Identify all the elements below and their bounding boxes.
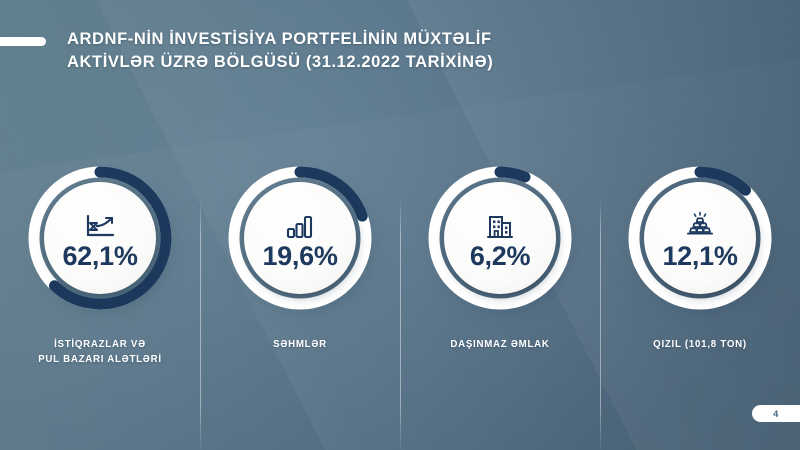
donut-chart-real-estate: 6,2% <box>424 162 576 314</box>
donut-chart-gold: 12,1% <box>624 162 776 314</box>
metric-label-bonds: İSTİQRAZLAR VƏ PUL BAZARI ALƏTLƏRİ <box>38 337 162 367</box>
metric-value-real-estate: 6,2% <box>470 243 530 270</box>
bar-chart-icon <box>285 207 315 241</box>
metric-card-row: 62,1% İSTİQRAZLAR VƏ PUL BAZARI ALƏTLƏRİ <box>0 162 800 367</box>
donut-center-bonds: 62,1% <box>44 182 156 294</box>
page-title: ARDNF-NİN İNVESTİSİYA PORTFELİNİN MÜXTƏL… <box>67 28 493 74</box>
donut-chart-shares: 19,6% <box>224 162 376 314</box>
metric-label-line-1: QIZIL (101,8 TON) <box>653 339 747 350</box>
metric-label-line-1: DAŞINMAZ ƏMLAK <box>450 339 549 350</box>
metric-label-real-estate: DAŞINMAZ ƏMLAK <box>450 337 549 352</box>
metric-card-real-estate: 6,2% DAŞINMAZ ƏMLAK <box>400 162 600 367</box>
metric-label-line-2: PUL BAZARI ALƏTLƏRİ <box>38 354 162 365</box>
line-chart-icon <box>84 207 116 241</box>
metric-value-bonds: 62,1% <box>62 243 137 270</box>
column-divider <box>400 200 401 450</box>
page-title-line-1: ARDNF-NİN İNVESTİSİYA PORTFELİNİN MÜXTƏL… <box>67 28 493 51</box>
column-divider <box>200 200 201 450</box>
gold-bars-icon <box>685 207 715 241</box>
metric-label-gold: QIZIL (101,8 TON) <box>653 337 747 352</box>
metric-card-shares: 19,6% SƏHMLƏR <box>200 162 400 367</box>
metric-card-bonds: 62,1% İSTİQRAZLAR VƏ PUL BAZARI ALƏTLƏRİ <box>0 162 200 367</box>
metric-label-shares: SƏHMLƏR <box>273 337 327 352</box>
page-number: 4 <box>773 409 778 419</box>
metric-value-shares: 19,6% <box>262 243 337 270</box>
metric-label-line-1: İSTİQRAZLAR VƏ <box>54 339 146 350</box>
donut-chart-bonds: 62,1% <box>24 162 176 314</box>
building-icon <box>486 207 514 241</box>
slide-root: ARDNF-NİN İNVESTİSİYA PORTFELİNİN MÜXTƏL… <box>0 0 800 450</box>
donut-center-gold: 12,1% <box>644 182 756 294</box>
page-number-pill: 4 <box>752 405 800 422</box>
slide-header: ARDNF-NİN İNVESTİSİYA PORTFELİNİN MÜXTƏL… <box>0 28 493 74</box>
title-dash-marker <box>0 37 46 46</box>
column-divider <box>600 200 601 450</box>
metric-value-gold: 12,1% <box>662 243 737 270</box>
metric-card-gold: 12,1% QIZIL (101,8 TON) <box>600 162 800 367</box>
donut-center-shares: 19,6% <box>244 182 356 294</box>
page-title-line-2: AKTİVLƏR ÜZRƏ BÖLGÜSÜ (31.12.2022 TARİXİ… <box>67 51 493 74</box>
donut-center-real-estate: 6,2% <box>444 182 556 294</box>
metric-label-line-1: SƏHMLƏR <box>273 339 327 350</box>
